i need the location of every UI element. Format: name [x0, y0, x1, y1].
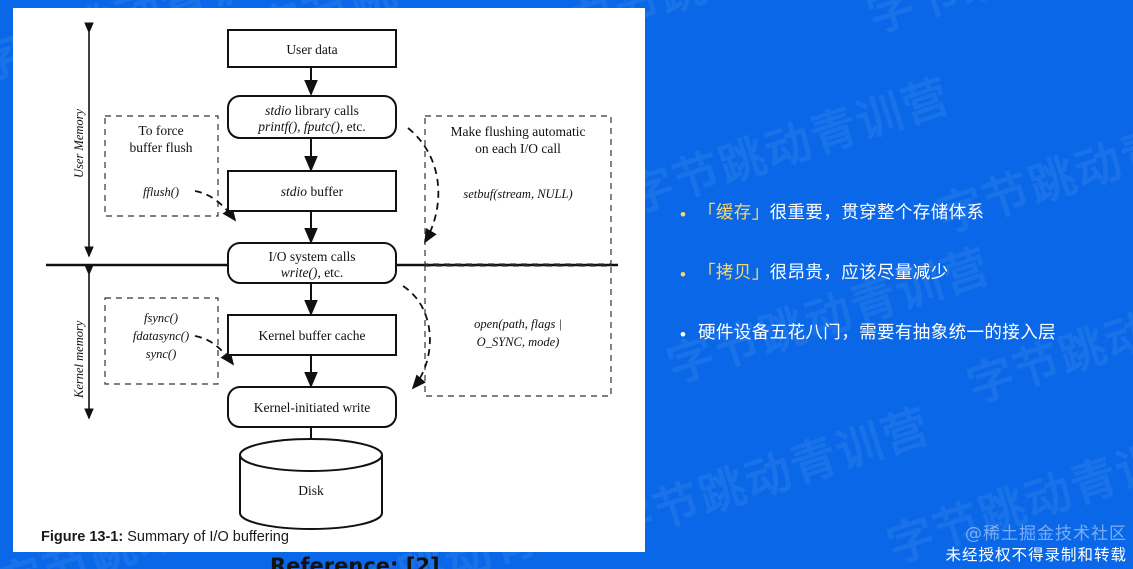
kernel-initiated-write-label: Kernel-initiated write	[254, 400, 371, 415]
io-calls-line1: I/O system calls	[269, 249, 356, 264]
setbuf-call-label: setbuf(stream, NULL)	[463, 187, 572, 201]
left-top-title-1: To force	[138, 123, 183, 138]
node-stdio-library-calls: stdio library calls printf(), fputc(), e…	[228, 96, 396, 138]
dashed-arrow-setbuf	[408, 128, 438, 242]
stdio-buffer-rest: buffer	[307, 184, 344, 199]
io-calls-etc: , etc.	[317, 265, 343, 280]
stdio-calls-etc: , etc.	[340, 119, 366, 134]
reference-line: Reference: [2]	[270, 554, 440, 569]
bullet-highlight-cache: 「缓存」	[698, 203, 770, 223]
watermark-text: 字节跳动青训营	[858, 0, 1133, 46]
watermark-text: 字节跳动青训营	[598, 390, 938, 557]
svg-text:printf(), fputc(), etc.: printf(), fputc(), etc.	[257, 119, 366, 134]
io-buffering-diagram: User Memory Kernel memory User data	[13, 8, 645, 552]
bullet-item-hardware: • 硬件设备五花八门，需要有抽象统一的接入层	[680, 316, 1120, 350]
watermark-account: @稀土掘金技术社区	[945, 523, 1127, 545]
left-top-title-2: buffer flush	[129, 140, 192, 155]
left-bottom-annotation: fsync() fdatasync() sync()	[133, 311, 189, 361]
figure-caption-text: Summary of I/O buffering	[123, 529, 289, 545]
figure-panel: User Memory Kernel memory User data	[13, 8, 645, 552]
sync-call-label: sync()	[146, 347, 177, 361]
bullet-text-hardware: 硬件设备五花八门，需要有抽象统一的接入层	[698, 316, 1120, 350]
user-memory-label: User Memory	[72, 108, 86, 178]
left-top-annotation: To force buffer flush fflush()	[129, 123, 192, 199]
kernel-memory-scale: Kernel memory	[72, 274, 89, 418]
fsync-call-label: fsync()	[144, 311, 178, 325]
svg-text:write(), etc.: write(), etc.	[281, 265, 344, 280]
bullet-item-copy: • 「拷贝」很昂贵，应该尽量减少	[680, 256, 1120, 290]
open-call-label-2: O_SYNC, mode)	[477, 335, 560, 349]
kernel-buffer-cache-label: Kernel buffer cache	[259, 328, 366, 343]
stdio-calls-rest: library calls	[291, 103, 358, 118]
bullet-rest-cache: 很重要，贯穿整个存储体系	[770, 203, 985, 223]
bullet-text-cache: 「缓存」很重要，贯穿整个存储体系	[698, 196, 1120, 230]
node-kernel-initiated-write: Kernel-initiated write	[228, 387, 396, 427]
bullet-item-cache: • 「缓存」很重要，贯穿整个存储体系	[680, 196, 1120, 230]
node-stdio-buffer: stdio buffer	[228, 171, 396, 211]
bullet-list: • 「缓存」很重要，贯穿整个存储体系 • 「拷贝」很昂贵，应该尽量减少 • 硬件…	[680, 196, 1120, 376]
figure-caption: Figure 13-1: Summary of I/O buffering	[41, 529, 289, 545]
kernel-memory-label: Kernel memory	[72, 320, 86, 399]
bullet-marker-icon: •	[680, 326, 698, 343]
fdatasync-call-label: fdatasync()	[133, 329, 189, 343]
watermark-notice: 未经授权不得录制和转载	[945, 545, 1127, 565]
right-bottom-annotation-box	[425, 266, 611, 396]
right-top-title-1: Make flushing automatic	[451, 124, 586, 139]
open-call-label-1: open(path, flags |	[474, 317, 562, 331]
bullet-marker-icon: •	[680, 266, 698, 283]
dashed-arrow-osync	[403, 286, 430, 388]
disk-label: Disk	[298, 483, 324, 498]
node-disk: Disk	[240, 439, 382, 529]
bullet-rest-copy: 很昂贵，应该尽量减少	[770, 263, 949, 283]
bullet-highlight-copy: 「拷贝」	[698, 263, 770, 283]
node-kernel-buffer-cache: Kernel buffer cache	[228, 315, 396, 355]
stdio-buffer-italic: stdio	[281, 184, 308, 199]
node-io-system-calls: I/O system calls write(), etc.	[228, 243, 396, 283]
bullet-marker-icon: •	[680, 206, 698, 223]
io-calls-write: write()	[281, 265, 318, 280]
right-top-title-2: on each I/O call	[475, 141, 561, 156]
stdio-calls-italic: stdio	[265, 103, 292, 118]
right-top-annotation: Make flushing automatic on each I/O call…	[451, 124, 586, 201]
bullet-text-copy: 「拷贝」很昂贵，应该尽量减少	[698, 256, 1120, 290]
figure-caption-number: Figure 13-1:	[41, 529, 123, 545]
svg-text:stdio library calls: stdio library calls	[265, 103, 359, 118]
fflush-call-label: fflush()	[143, 185, 179, 199]
user-memory-scale: User Memory	[72, 32, 89, 256]
corner-watermark: @稀土掘金技术社区 未经授权不得录制和转载	[945, 523, 1127, 565]
node-user-data: User data	[228, 30, 396, 67]
right-bottom-annotation: open(path, flags | O_SYNC, mode)	[474, 317, 562, 349]
node-user-data-label: User data	[286, 42, 337, 57]
svg-text:stdio buffer: stdio buffer	[281, 184, 344, 199]
stdio-calls-fns: printf(), fputc()	[257, 119, 340, 134]
